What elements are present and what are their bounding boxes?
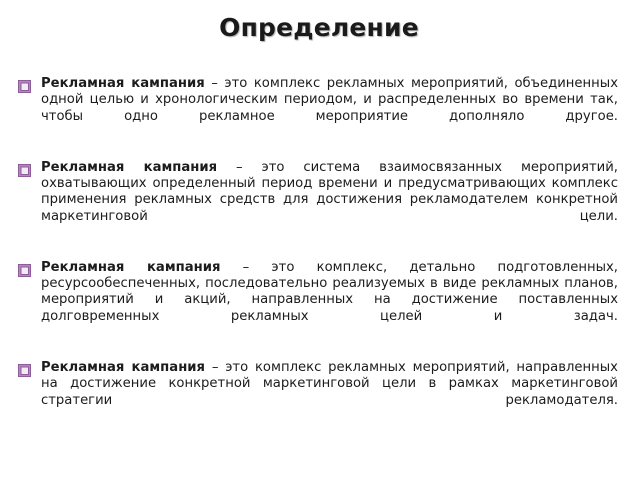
list-item-lead: Рекламная кампания [41,76,205,91]
list-item-lead: Рекламная кампания [41,260,220,275]
definition-list: Рекламная кампания – это комплекс реклам… [18,76,618,425]
list-item: Рекламная кампания – это комплекс реклам… [18,360,618,426]
purple-square-bullet-icon [18,80,31,93]
list-item-text: Рекламная кампания – это система взаимос… [41,160,618,242]
list-item-text: Рекламная кампания – это комплекс реклам… [41,360,618,426]
list-item: Рекламная кампания – это комплекс реклам… [18,76,618,142]
list-item-text: Рекламная кампания – это комплекс реклам… [41,76,618,142]
list-item-lead: Рекламная кампания [41,360,205,375]
page-title: Определение [0,14,638,42]
list-item: Рекламная кампания – это система взаимос… [18,160,618,242]
slide: Определение Рекламная кампания – это ком… [0,0,638,478]
purple-square-bullet-icon [18,364,31,377]
list-item: Рекламная кампания – это комплекс, детал… [18,260,618,342]
purple-square-bullet-icon [18,164,31,177]
list-item-lead: Рекламная кампания [41,160,217,175]
purple-square-bullet-icon [18,264,31,277]
list-item-text: Рекламная кампания – это комплекс, детал… [41,260,618,342]
